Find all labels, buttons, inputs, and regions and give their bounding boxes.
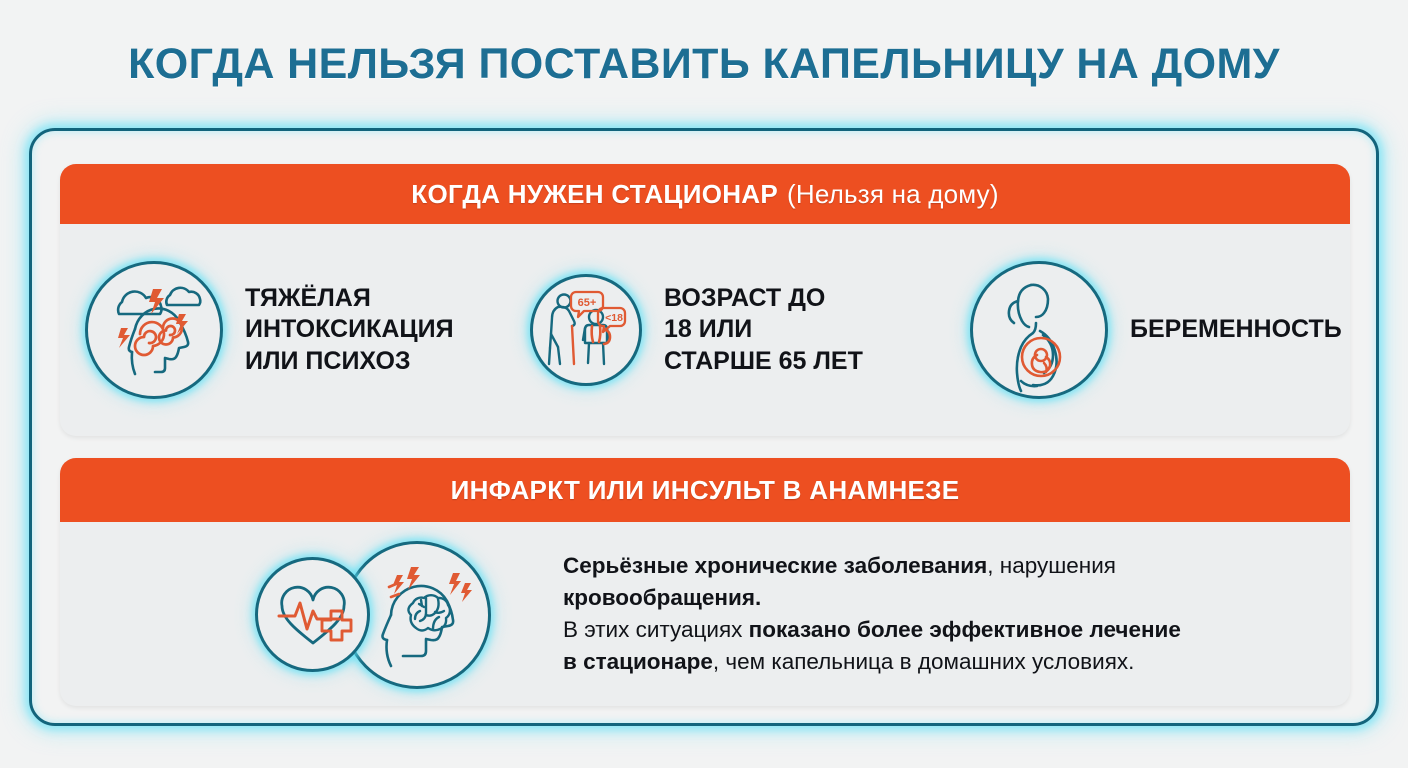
bottom-section-header: ИНФАРКТ ИЛИ ИНСУЛЬТ В АНАМНЕЗЕ [60,458,1350,522]
top-section-header: КОГДА НУЖЕН СТАЦИОНАР (Нельзя на дому) [60,164,1350,224]
head-storm-clouds-icon [85,261,223,399]
paragraph-line-3-normal: В этих ситуациях [563,617,749,642]
bottom-section-header-strong: ИНФАРКТ ИЛИ ИНСУЛЬТ В АНАМНЕЗЕ [451,475,960,506]
stationary-required-card: КОГДА НУЖЕН СТАЦИОНАР (Нельзя на дому) [60,164,1350,436]
paragraph-line-2: кровообращения. [563,582,1181,614]
pregnant-woman-icon [970,261,1108,399]
paragraph-line-1: Серьёзные хронические заболевания, наруш… [563,550,1181,582]
heart-ecg-cross-icon [255,557,370,672]
svg-text:65+: 65+ [578,297,597,309]
item-intoxication-label: ТЯЖЁЛАЯ ИНТОКСИКАЦИЯ ИЛИ ПСИХОЗ [245,283,454,377]
item-age: 65+ <18 ВОЗРАСТ ДО 18 ИЛИ СТАРШЕ 65 ЛЕТ [515,274,960,386]
paragraph-line-3-bold: показано более эффективное лечение [749,617,1181,642]
top-section-header-strong: КОГДА НУЖЕН СТАЦИОНАР [411,179,778,210]
paragraph-line-4-bold: в стационаре [563,649,713,674]
bottom-icons-group [255,539,535,689]
page-title: КОГДА НЕЛЬЗЯ ПОСТАВИТЬ КАПЕЛЬНИЦУ НА ДОМ… [0,40,1408,89]
paragraph-line-4: в стационаре, чем капельница в домашних … [563,646,1181,678]
top-section-header-light: (Нельзя на дому) [787,179,999,210]
svg-text:<18: <18 [605,312,623,324]
paragraph-line-4-rest: , чем капельница в домашних условиях. [713,649,1134,674]
paragraph-line-3: В этих ситуациях показано более эффектив… [563,614,1181,646]
paragraph-line-2-bold: кровообращения. [563,585,761,610]
paragraph-line-1-rest: , нарушения [987,553,1116,578]
bottom-paragraph: Серьёзные хронические заболевания, наруш… [563,550,1181,678]
item-intoxication: ТЯЖЁЛАЯ ИНТОКСИКАЦИЯ ИЛИ ПСИХОЗ [60,261,515,399]
top-items-row: ТЯЖЁЛАЯ ИНТОКСИКАЦИЯ ИЛИ ПСИХОЗ [60,224,1350,436]
item-age-label: ВОЗРАСТ ДО 18 ИЛИ СТАРШЕ 65 ЛЕТ [664,283,863,377]
elderly-and-child-icon: 65+ <18 [530,274,642,386]
item-pregnancy: БЕРЕМЕННОСТЬ [960,261,1350,399]
paragraph-line-1-bold: Серьёзные хронические заболевания [563,553,987,578]
infarction-stroke-card: ИНФАРКТ ИЛИ ИНСУЛЬТ В АНАМНЕЗЕ [60,458,1350,706]
bottom-body: Серьёзные хронические заболевания, наруш… [60,522,1350,706]
item-pregnancy-label: БЕРЕМЕННОСТЬ [1130,314,1342,345]
